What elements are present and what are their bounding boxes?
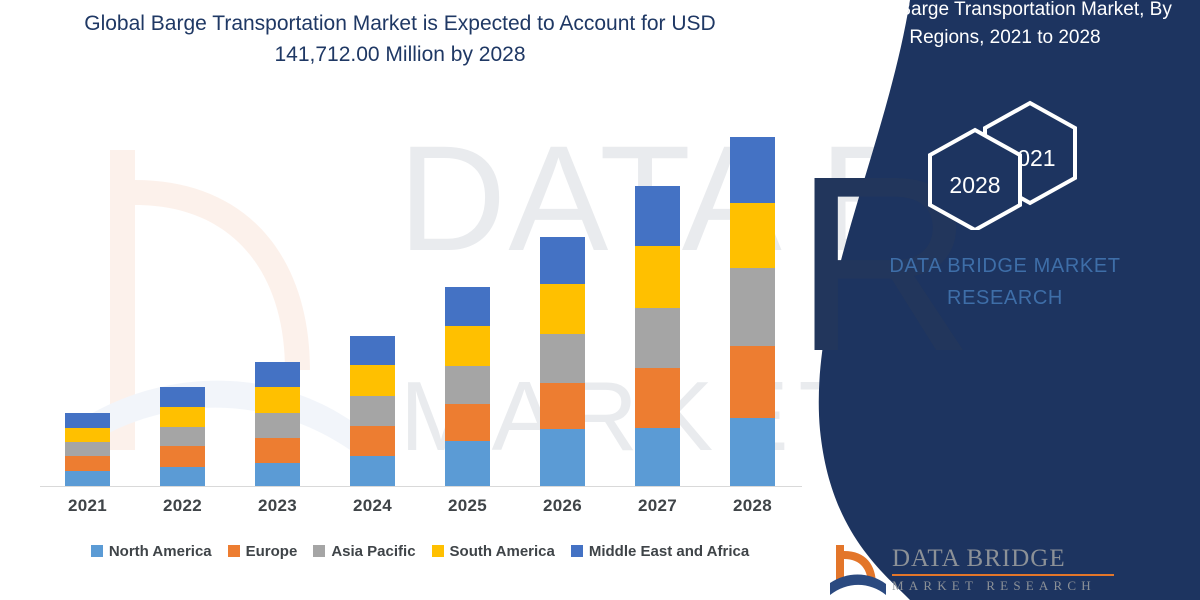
x-tick-label-2023: 2023	[233, 496, 323, 526]
bar-segment	[255, 362, 300, 387]
bar-segment	[350, 396, 395, 426]
x-tick-label-2027: 2027	[613, 496, 703, 526]
bar-stack	[255, 362, 300, 486]
bar-segment	[255, 387, 300, 413]
bar-stack	[540, 237, 585, 486]
bar-stack	[160, 387, 205, 486]
infographic-root: DATA BRIDGE MARKET RESEARCH Global Barge…	[0, 0, 1200, 600]
bar-segment	[730, 346, 775, 418]
legend-label: Asia Pacific	[331, 543, 415, 560]
bar-stack	[635, 186, 680, 486]
logo-tagline: MARKET RESEARCH	[892, 578, 1152, 594]
bar-column-2022	[138, 120, 228, 486]
bar-segment	[350, 365, 395, 396]
bar-segment	[160, 407, 205, 427]
chart-panel: Global Barge Transportation Market is Ex…	[0, 0, 820, 600]
chart-legend: North AmericaEuropeAsia PacificSouth Ame…	[40, 538, 800, 564]
right-panel-brand-text: DATA BRIDGE MARKET RESEARCH	[845, 250, 1165, 314]
logo-b-mark-icon	[830, 543, 886, 599]
bar-segment	[255, 413, 300, 438]
stacked-bar-series	[40, 120, 800, 486]
legend-label: Middle East and Africa	[589, 543, 749, 560]
bar-segment	[635, 368, 680, 428]
bar-segment	[255, 438, 300, 463]
bar-segment	[160, 387, 205, 407]
legend-swatch-icon	[313, 545, 325, 557]
legend-item-europe[interactable]: Europe	[228, 543, 298, 560]
databridge-logo: DATA BRIDGE MARKET RESEARCH	[830, 543, 1160, 600]
right-info-panel: R Global Barge Transportation Market, By…	[790, 0, 1200, 600]
bar-column-2028	[708, 120, 798, 486]
legend-item-middle-east-and-africa[interactable]: Middle East and Africa	[571, 543, 749, 560]
bar-segment	[445, 404, 490, 441]
bar-segment	[65, 428, 110, 442]
bar-segment	[635, 308, 680, 368]
chart-title: Global Barge Transportation Market is Ex…	[40, 8, 760, 70]
bar-segment	[445, 287, 490, 326]
bar-segment	[635, 428, 680, 486]
x-tick-label-2022: 2022	[138, 496, 228, 526]
legend-swatch-icon	[228, 545, 240, 557]
legend-label: North America	[109, 543, 212, 560]
bar-segment	[160, 467, 205, 486]
bar-segment	[350, 426, 395, 456]
bar-stack	[445, 287, 490, 486]
bar-segment	[445, 326, 490, 366]
hexagon-2028-label: 2028	[949, 172, 1000, 198]
right-panel-content: R Global Barge Transportation Market, By…	[790, 0, 1200, 600]
x-axis-line	[40, 486, 802, 487]
bar-segment	[635, 246, 680, 308]
bar-segment	[730, 268, 775, 346]
legend-item-north-america[interactable]: North America	[91, 543, 212, 560]
right-panel-title: Global Barge Transportation Market, By R…	[835, 0, 1175, 52]
legend-swatch-icon	[91, 545, 103, 557]
legend-label: South America	[450, 543, 555, 560]
legend-swatch-icon	[571, 545, 583, 557]
bar-segment	[730, 418, 775, 486]
bar-segment	[160, 427, 205, 446]
bar-column-2023	[233, 120, 323, 486]
legend-item-asia-pacific[interactable]: Asia Pacific	[313, 543, 415, 560]
bar-column-2026	[518, 120, 608, 486]
bar-segment	[65, 456, 110, 471]
bar-stack	[730, 137, 775, 486]
bar-segment	[635, 186, 680, 246]
bar-stack	[350, 336, 395, 486]
hexagon-group: 2021 2028	[900, 100, 1130, 230]
bar-segment	[730, 203, 775, 268]
bar-segment	[540, 383, 585, 429]
x-tick-label-2026: 2026	[518, 496, 608, 526]
logo-wordmark: DATA BRIDGE MARKET RESEARCH	[892, 545, 1152, 594]
bar-segment	[65, 442, 110, 456]
x-tick-label-2025: 2025	[423, 496, 513, 526]
legend-label: Europe	[246, 543, 298, 560]
bar-segment	[65, 471, 110, 486]
bar-column-2024	[328, 120, 418, 486]
bar-segment	[540, 237, 585, 284]
bar-segment	[540, 429, 585, 486]
bar-stack	[65, 413, 110, 486]
bar-segment	[540, 334, 585, 383]
legend-item-south-america[interactable]: South America	[432, 543, 555, 560]
bar-segment	[540, 284, 585, 334]
logo-name: DATA BRIDGE	[892, 545, 1152, 573]
bar-segment	[730, 137, 775, 203]
logo-divider	[892, 574, 1114, 576]
legend-swatch-icon	[432, 545, 444, 557]
bar-segment	[160, 446, 205, 467]
x-tick-label-2028: 2028	[708, 496, 798, 526]
x-tick-label-2021: 2021	[43, 496, 133, 526]
bar-segment	[65, 413, 110, 428]
x-tick-label-2024: 2024	[328, 496, 418, 526]
bar-segment	[350, 456, 395, 486]
bar-column-2021	[43, 120, 133, 486]
bar-column-2027	[613, 120, 703, 486]
bar-column-2025	[423, 120, 513, 486]
bar-segment	[445, 366, 490, 404]
bar-segment	[255, 463, 300, 486]
bar-segment	[445, 441, 490, 486]
x-axis-tick-labels: 20212022202320242025202620272028	[40, 496, 800, 526]
bar-segment	[350, 336, 395, 365]
